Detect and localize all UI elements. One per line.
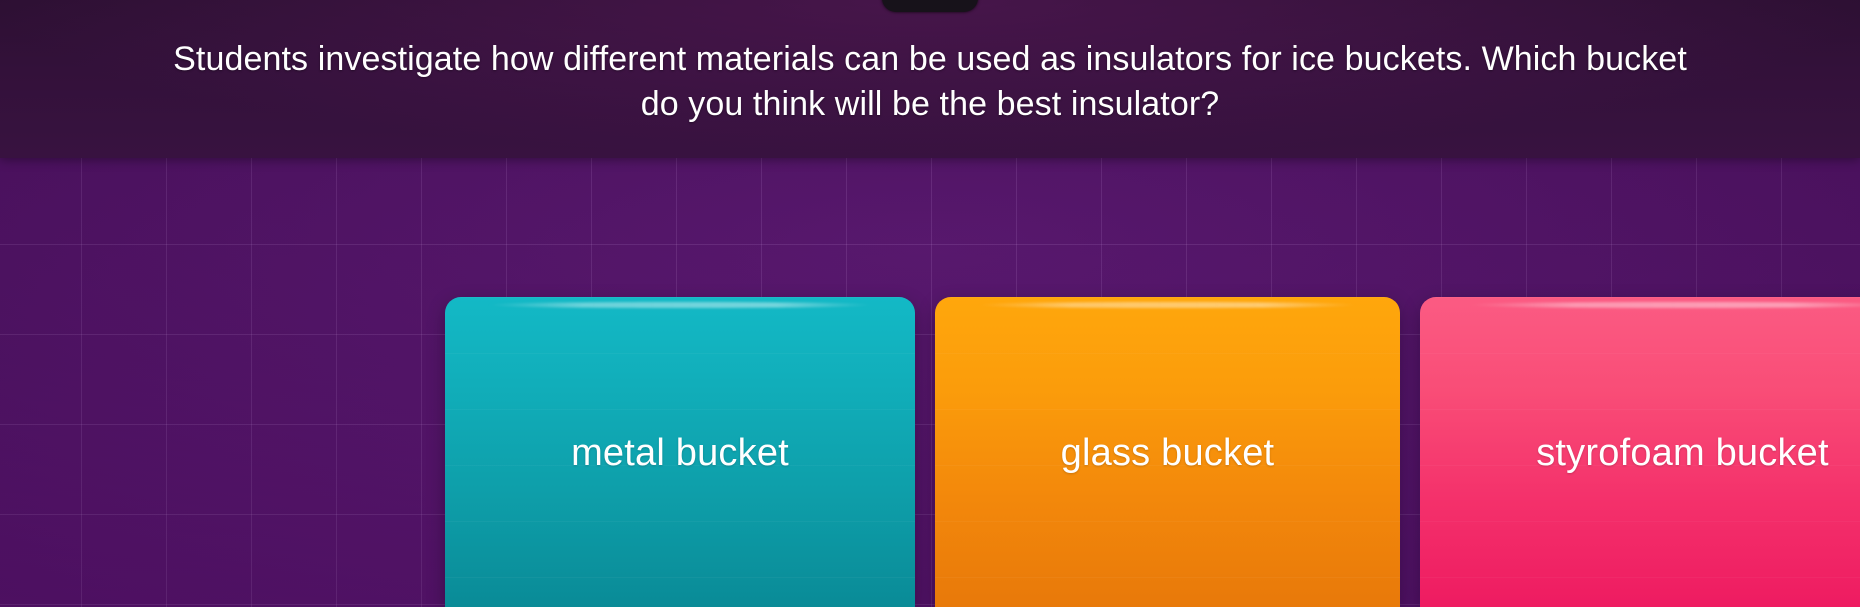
question-text: Students investigate how different mater… — [165, 31, 1695, 127]
question-bar: Students investigate how different mater… — [0, 0, 1860, 158]
answer-label: glass bucket — [1061, 432, 1275, 607]
answer-card-metal-bucket[interactable]: metal bucket — [445, 297, 915, 607]
quiz-screen: Students investigate how different mater… — [0, 0, 1860, 607]
answer-card-glass-bucket[interactable]: glass bucket — [935, 297, 1400, 607]
answer-card-styrofoam-bucket[interactable]: styrofoam bucket — [1420, 297, 1860, 607]
answer-options: metal bucket glass bucket styrofoam buck… — [445, 297, 1860, 607]
camera-notch-icon — [882, 0, 978, 12]
answer-label: styrofoam bucket — [1536, 432, 1829, 607]
answer-label: metal bucket — [571, 432, 789, 607]
